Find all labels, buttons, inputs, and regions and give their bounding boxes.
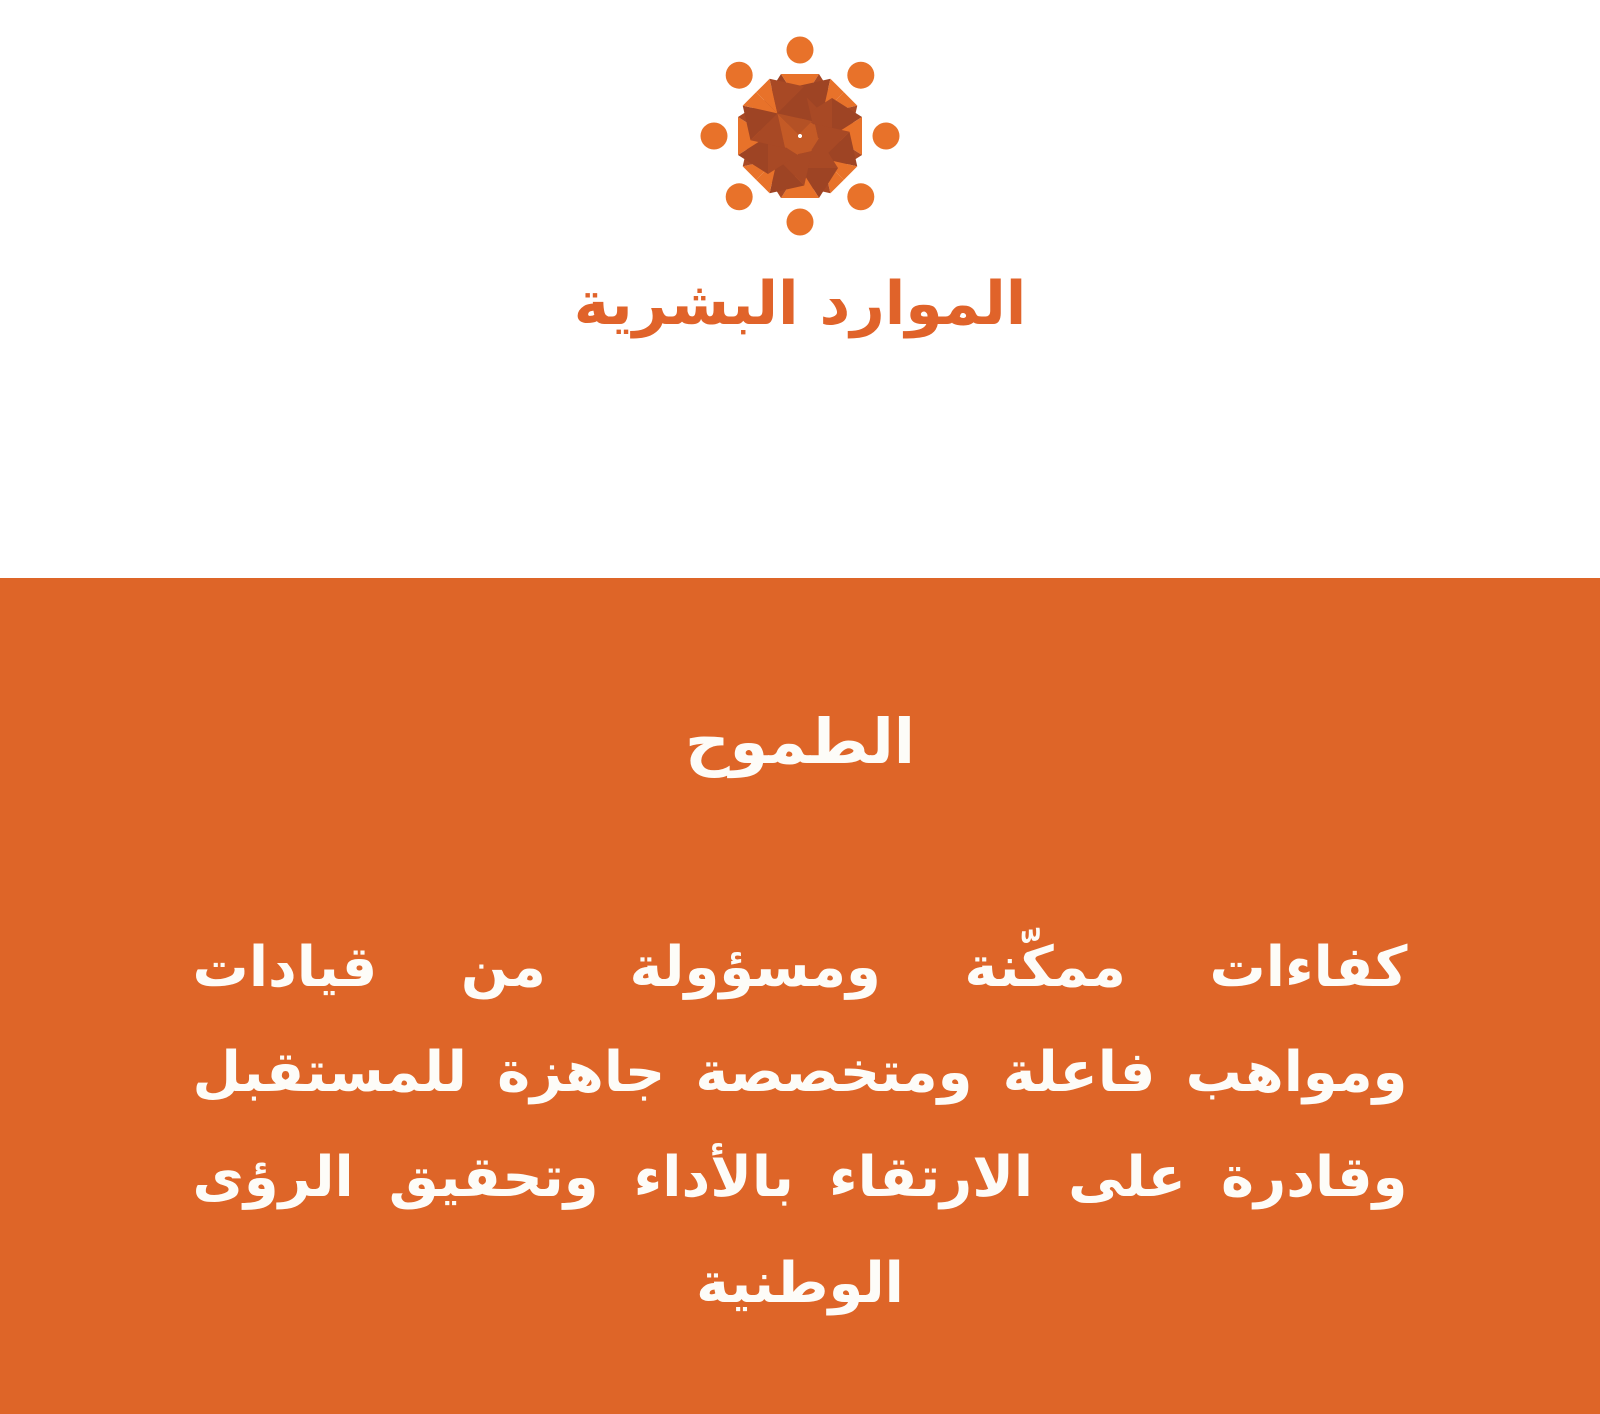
poster-page: الموارد البشرية الطموح كفاءات ممكّنة ومس…	[0, 0, 1600, 1414]
value-word: الرؤى	[193, 1125, 354, 1230]
value-word: وتحقيق	[389, 1125, 599, 1230]
value-word: بالأداء	[634, 1125, 794, 1230]
value-word: ومتخصصة	[695, 1020, 972, 1125]
value-body-line: الوطنية	[193, 1231, 1408, 1336]
value-word: جاهزة	[497, 1020, 665, 1125]
value-body-line: وقادرة على الارتقاء بالأداء وتحقيق الرؤى	[193, 1125, 1408, 1230]
value-word: فاعلة	[1003, 1020, 1156, 1125]
value-word: الارتقاء	[829, 1125, 1033, 1230]
value-word: وقادرة	[1221, 1125, 1408, 1230]
value-word: ومواهب	[1186, 1020, 1408, 1125]
value-word: ممكّنة	[964, 915, 1126, 1020]
value-word: من	[461, 915, 546, 1020]
brand-panel: الموارد البشرية	[0, 0, 1600, 578]
value-panel: الطموح كفاءات ممكّنة ومسؤولة من قيادات و…	[0, 578, 1600, 1414]
people-circle-star-logo-icon	[650, 12, 950, 260]
value-word: كفاءات	[1210, 915, 1408, 1020]
value-word: ومسؤولة	[629, 915, 880, 1020]
value-word: قيادات	[193, 915, 378, 1020]
value-body-line: كفاءات ممكّنة ومسؤولة من قيادات	[193, 915, 1408, 1020]
value-body-line: ومواهب فاعلة ومتخصصة جاهزة للمستقبل	[193, 1020, 1408, 1125]
value-word: للمستقبل	[193, 1020, 467, 1125]
value-body: كفاءات ممكّنة ومسؤولة من قيادات ومواهب ف…	[193, 915, 1408, 1336]
value-title: الطموح	[685, 706, 915, 777]
brand-wordmark: الموارد البشرية	[574, 274, 1027, 334]
value-word: الوطنية	[696, 1251, 904, 1316]
value-word: على	[1068, 1125, 1186, 1230]
